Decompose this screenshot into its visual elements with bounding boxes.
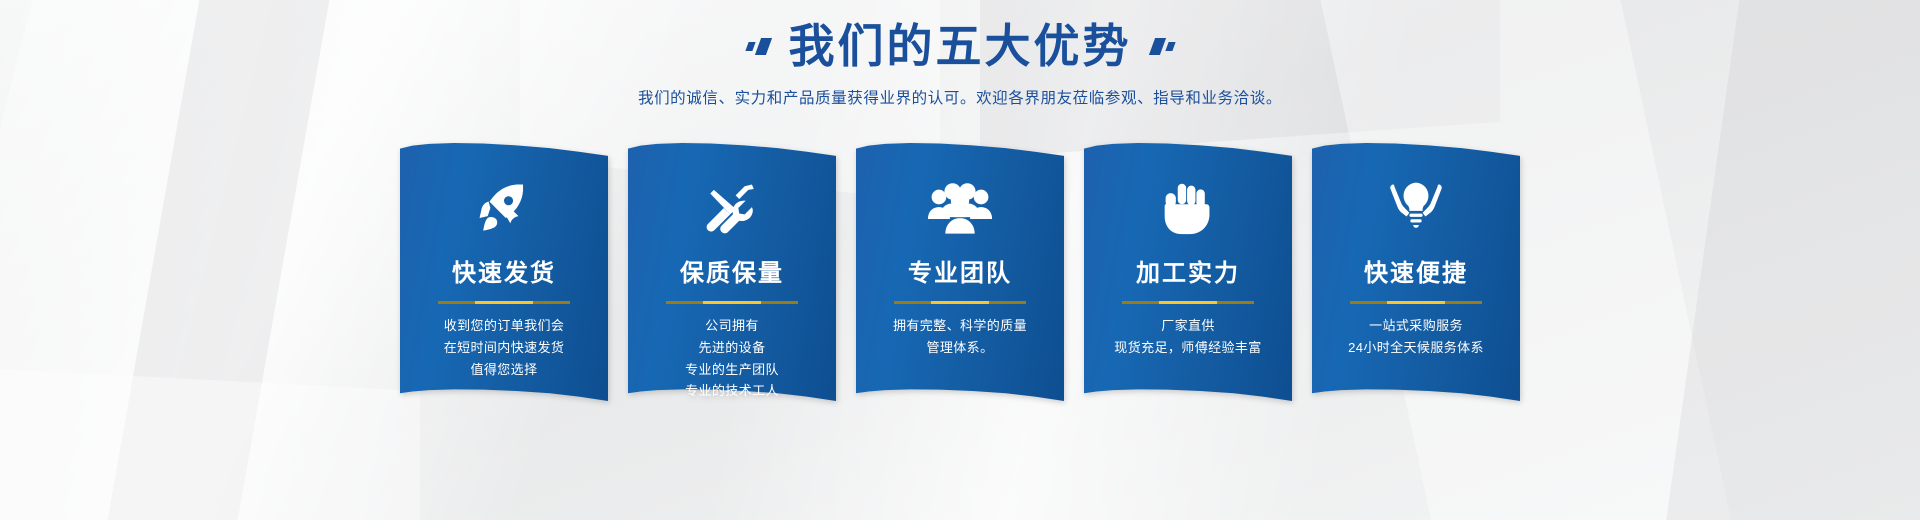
card-body-line: 收到您的订单我们会	[444, 315, 565, 337]
page-title-row: 我们的五大优势	[0, 0, 1920, 76]
diamond-dots-right-icon	[1152, 38, 1174, 55]
card-body-line: 专业的技术工人	[685, 380, 779, 402]
card-title: 快速发货	[452, 253, 556, 288]
card-body-line: 先进的设备	[685, 337, 779, 359]
page-subtitle: 我们的诚信、实力和产品质量获得业界的认可。欢迎各界朋友莅临参观、指导和业务洽谈。	[0, 86, 1920, 108]
page-title: 我们的五大优势	[789, 18, 1132, 76]
card-divider	[894, 301, 1026, 304]
card-divider	[438, 301, 570, 304]
card-body: 厂家直供 现货充足，师傅经验丰富	[1114, 315, 1261, 359]
card-body-line: 公司拥有	[685, 315, 779, 337]
card-divider	[666, 301, 798, 304]
fist-icon	[1160, 177, 1216, 239]
rocket-icon	[474, 177, 534, 239]
card-body: 拥有完整、科学的质量 管理体系。	[893, 315, 1027, 359]
card-divider	[1350, 301, 1482, 304]
card-title: 快速便捷	[1364, 253, 1468, 288]
people-group-icon	[927, 177, 993, 239]
card-title: 专业团队	[908, 253, 1012, 288]
advantage-card[interactable]: 快速便捷 一站式采购服务 24小时全天候服务体系	[1312, 143, 1520, 401]
card-body-line: 在短时间内快速发货	[444, 337, 565, 359]
advantage-card[interactable]: 快速发货 收到您的订单我们会 在短时间内快速发货 值得您选择	[400, 143, 608, 401]
card-body-line: 值得您选择	[444, 359, 565, 381]
section-header: 我们的五大优势 我们的诚信、实力和产品质量获得业界的认可。欢迎各界朋友莅临参观、…	[0, 0, 1920, 108]
card-title: 加工实力	[1136, 253, 1240, 288]
advantages-card-list: 快速发货 收到您的订单我们会 在短时间内快速发货 值得您选择 保质保量	[0, 143, 1920, 401]
diamond-dots-left-icon	[747, 38, 769, 55]
card-body-line: 厂家直供	[1114, 315, 1261, 337]
lightbulb-in-hands-icon	[1384, 177, 1448, 239]
card-body-line: 专业的生产团队	[685, 359, 779, 381]
card-body: 一站式采购服务 24小时全天候服务体系	[1348, 315, 1484, 359]
advantage-card[interactable]: 保质保量 公司拥有 先进的设备 专业的生产团队 专业的技术工人	[628, 143, 836, 401]
card-body-line: 拥有完整、科学的质量	[893, 315, 1027, 337]
advantage-card[interactable]: 专业团队 拥有完整、科学的质量 管理体系。	[856, 143, 1064, 401]
card-body-line: 管理体系。	[893, 337, 1027, 359]
card-body-line: 现货充足，师傅经验丰富	[1114, 337, 1261, 359]
card-title: 保质保量	[680, 253, 784, 288]
card-body: 收到您的订单我们会 在短时间内快速发货 值得您选择	[444, 315, 565, 380]
card-body: 公司拥有 先进的设备 专业的生产团队 专业的技术工人	[685, 315, 779, 402]
card-divider	[1122, 301, 1254, 304]
card-body-line: 24小时全天候服务体系	[1348, 337, 1484, 359]
tools-wrench-screwdriver-icon	[702, 177, 762, 239]
card-body-line: 一站式采购服务	[1348, 315, 1484, 337]
advantage-card[interactable]: 加工实力 厂家直供 现货充足，师傅经验丰富	[1084, 143, 1292, 401]
